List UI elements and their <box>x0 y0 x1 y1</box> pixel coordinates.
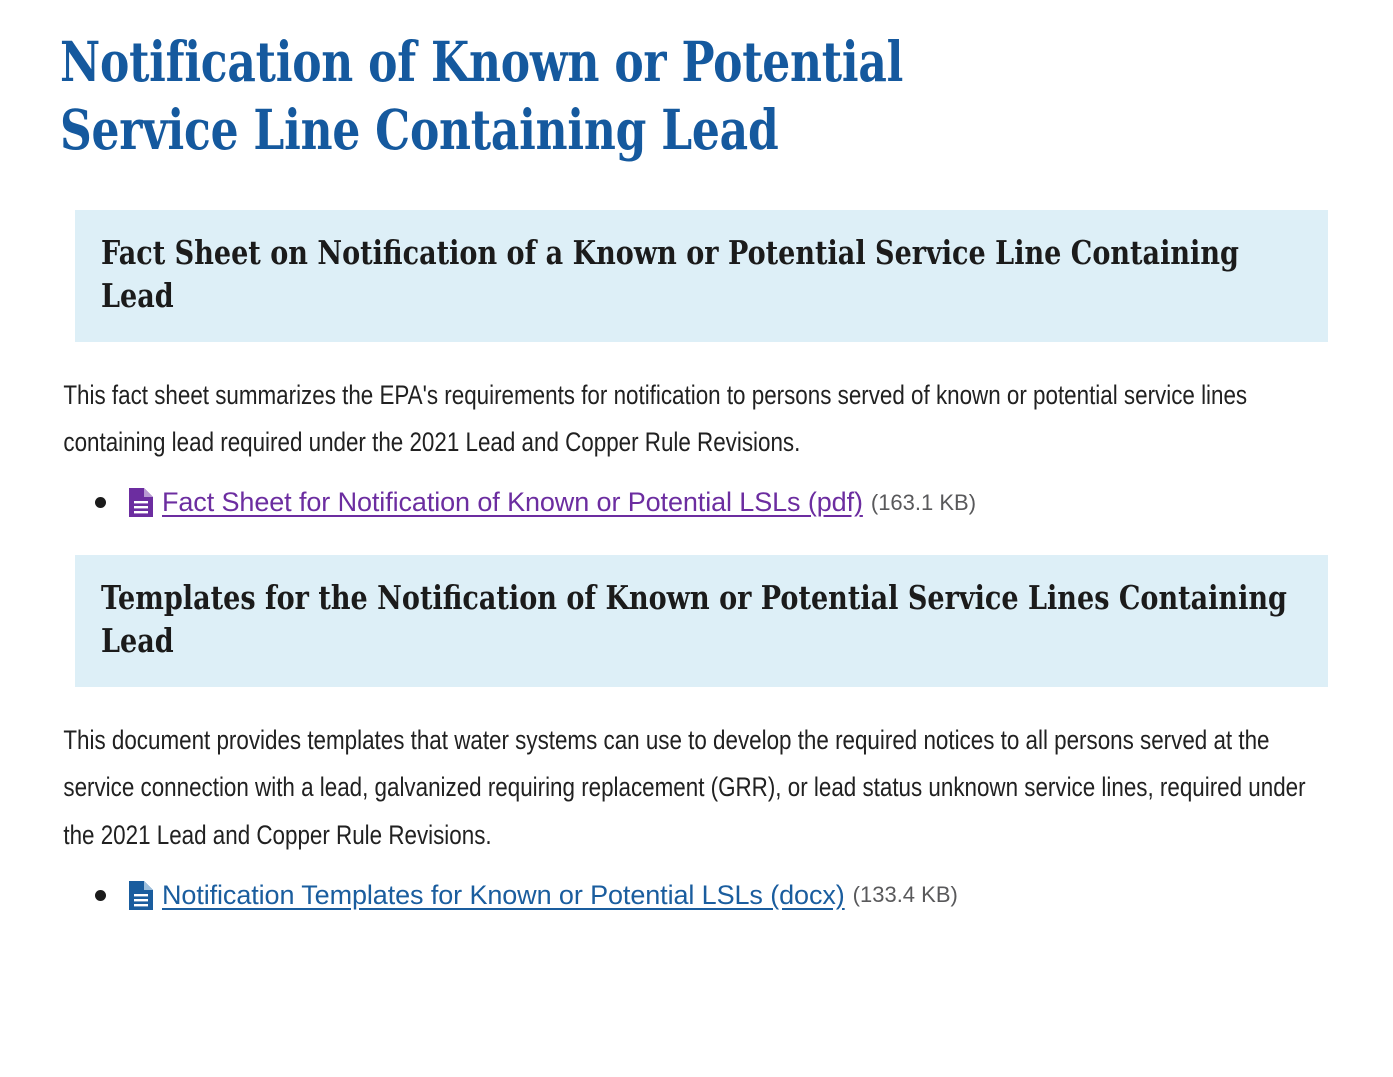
page-title: Notification of Known or Potential Servi… <box>0 0 1032 164</box>
page-content: Notification of Known or Potential Servi… <box>0 0 1393 910</box>
list-item: Notification Templates for Known or Pote… <box>0 881 1393 910</box>
section-paragraph: This document provides templates that wa… <box>0 687 1369 862</box>
document-file-icon <box>129 881 153 910</box>
spacer <box>0 521 1393 555</box>
section-heading-band: Fact Sheet on Notification of a Known or… <box>75 210 1328 342</box>
bullet-icon <box>95 497 106 508</box>
bullet-icon <box>95 890 106 901</box>
section-templates: Templates for the Notification of Known … <box>0 555 1393 909</box>
file-size-label: (133.4 KB) <box>853 884 958 906</box>
list-item: Fact Sheet for Notification of Known or … <box>0 488 1393 517</box>
section-heading: Templates for the Notification of Known … <box>101 577 1298 663</box>
section-heading: Fact Sheet on Notification of a Known or… <box>101 232 1298 318</box>
file-link-list: Notification Templates for Known or Pote… <box>0 863 1393 910</box>
file-link[interactable]: Notification Templates for Known or Pote… <box>162 882 845 909</box>
file-size-label: (163.1 KB) <box>871 492 976 514</box>
section-fact-sheet: Fact Sheet on Notification of a Known or… <box>0 210 1393 517</box>
document-file-icon <box>129 488 153 517</box>
section-paragraph: This fact sheet summarizes the EPA's req… <box>0 342 1369 470</box>
spacer <box>0 164 1393 210</box>
file-link[interactable]: Fact Sheet for Notification of Known or … <box>162 489 863 516</box>
section-heading-band: Templates for the Notification of Known … <box>75 555 1328 687</box>
file-link-list: Fact Sheet for Notification of Known or … <box>0 470 1393 517</box>
